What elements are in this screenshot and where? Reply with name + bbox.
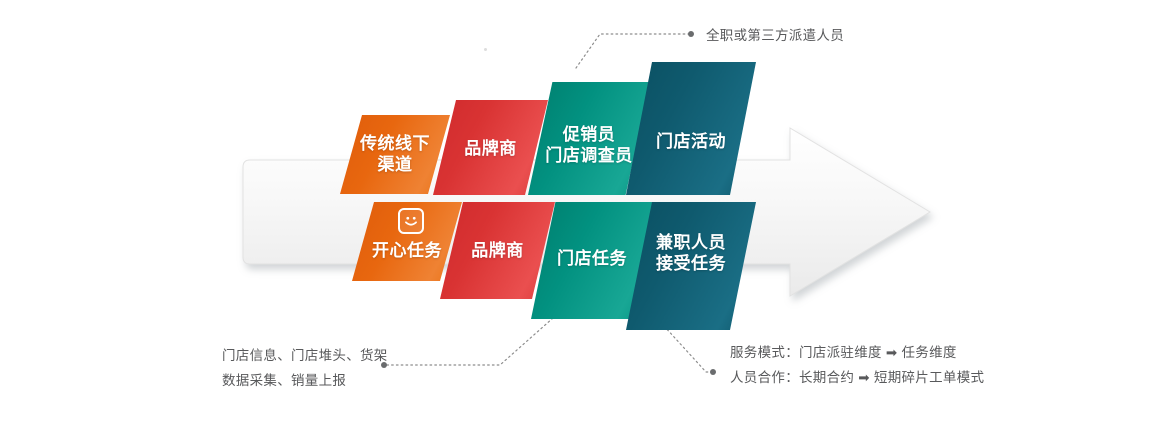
leader-dot-bottom-right bbox=[710, 369, 716, 375]
annotation-bottom-right-line-1: 服务模式：门店派驻维度 ➡ 任务维度 bbox=[730, 341, 957, 366]
process-diagram: 传统线下 渠道 品牌商 促销员 门店调查员 门店活动 开心任务 品牌商 bbox=[0, 0, 1150, 430]
top-band-4[interactable]: 门店活动 bbox=[626, 62, 756, 195]
bottom-band-4-label: 兼职人员 接受任务 bbox=[626, 232, 756, 275]
smiley-icon bbox=[398, 208, 424, 234]
leader-line-bottom-right bbox=[664, 326, 712, 372]
leader-line-bottom-left bbox=[387, 318, 553, 365]
annotation-top-right: 全职或第三方派遣人员 bbox=[706, 24, 844, 49]
decorative-speck bbox=[484, 48, 487, 51]
top-band-4-label: 门店活动 bbox=[626, 131, 756, 152]
annotation-bottom-left: 门店信息、门店堆头、货架 数据采集、销量上报 bbox=[222, 344, 388, 394]
leader-dot-top bbox=[688, 31, 694, 37]
annotation-bottom-right-line-2: 人员合作：长期合约 ➡ 短期碎片工单模式 bbox=[730, 366, 984, 391]
bottom-band-4[interactable]: 兼职人员 接受任务 bbox=[626, 202, 756, 330]
top-band-4-shape bbox=[626, 62, 756, 195]
